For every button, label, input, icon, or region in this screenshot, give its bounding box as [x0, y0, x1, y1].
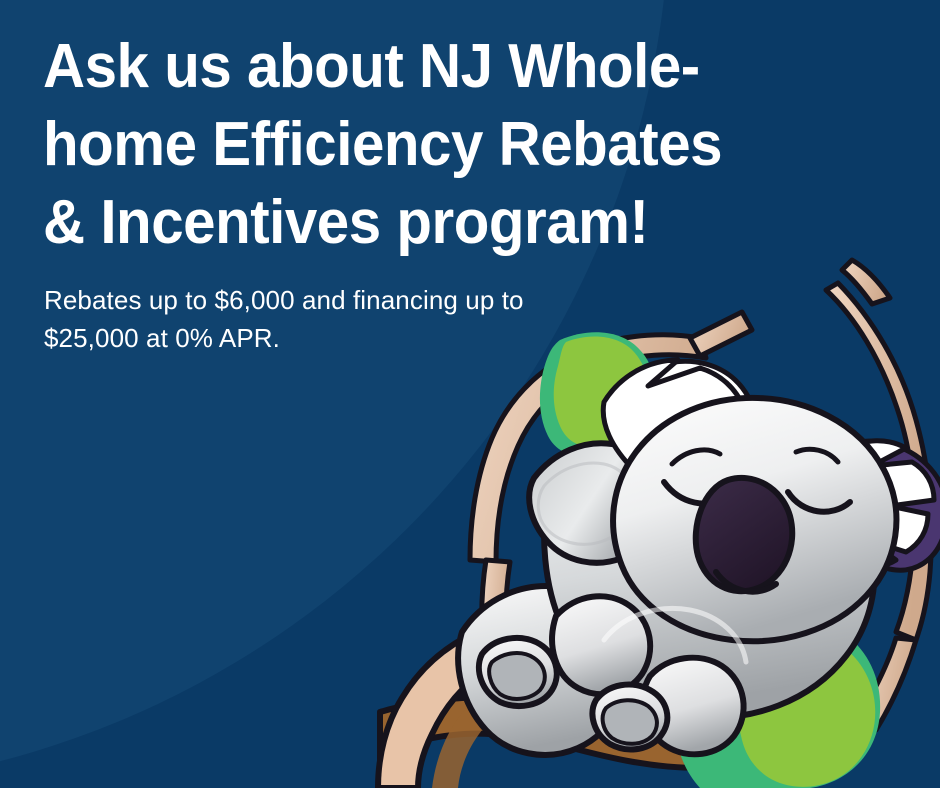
- koala-eye-right: [788, 492, 850, 512]
- koala-ear-left: [603, 360, 756, 491]
- koala-eyebrow-right: [796, 449, 838, 462]
- banner-headline: Ask us about NJ Whole- home Efficiency R…: [43, 28, 823, 262]
- koala-ear-right: [823, 441, 940, 570]
- koala-eye-left: [664, 482, 728, 504]
- eucalyptus-leaf-lower-right: [675, 614, 880, 788]
- branch-curve-right: [826, 260, 931, 730]
- koala-body: [544, 440, 875, 718]
- koala-eyebrow-left: [672, 450, 720, 464]
- koala-head: [613, 398, 896, 641]
- banner-subheadline: Rebates up to $6,000 and financing up to…: [44, 281, 644, 357]
- koala-arm-left: [529, 443, 662, 563]
- koala-smile: [716, 572, 776, 592]
- koala-belly-highlight: [604, 608, 746, 662]
- tree-branch-main: [378, 616, 820, 788]
- koala-nose: [696, 478, 793, 591]
- koala-paw-rear: [592, 658, 743, 755]
- promo-banner: Ask us about NJ Whole- home Efficiency R…: [0, 0, 940, 788]
- koala-paw-front: [479, 596, 650, 706]
- koala-haunch: [458, 586, 628, 755]
- koala-arm-left-shadow: [538, 463, 634, 544]
- twig-left: [482, 560, 512, 684]
